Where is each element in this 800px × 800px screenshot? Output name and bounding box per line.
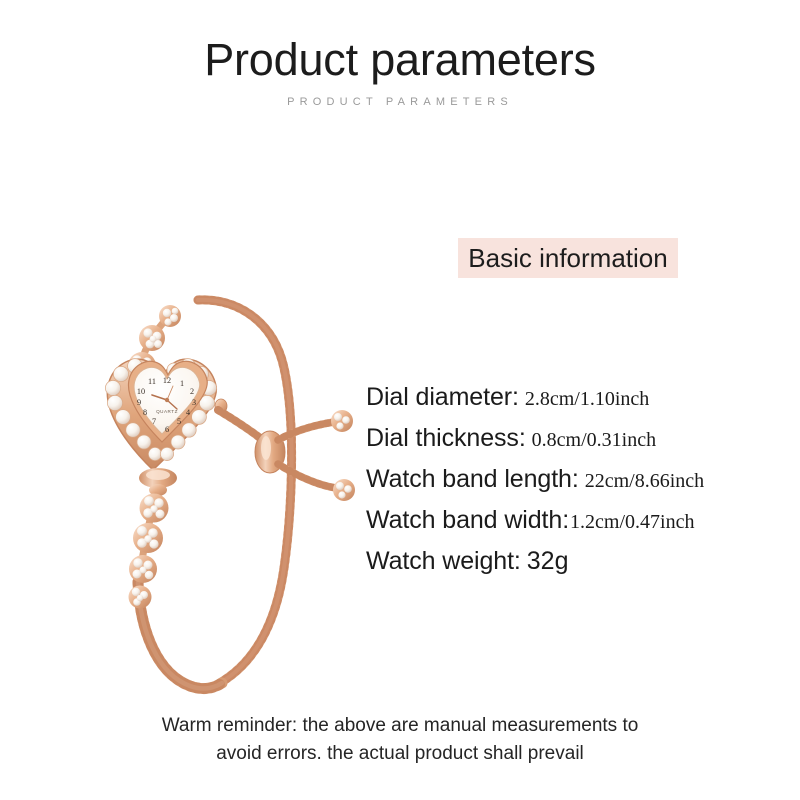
spec-value: 2.8cm/1.10inch	[519, 388, 649, 411]
dial-brand-text: QUARTZ	[156, 409, 178, 414]
svg-text:3: 3	[192, 398, 196, 407]
spec-value: 0.8cm/0.31inch	[526, 429, 656, 452]
heart-watch-case: 12 1 2 3 4 5 6 7 8 9 10 11 QUARTZ	[105, 359, 227, 470]
basic-information-highlight: Basic information	[458, 238, 678, 278]
spec-label: Watch band width:	[366, 506, 569, 535]
page-subtitle: PRODUCT PARAMETERS	[0, 96, 800, 108]
page-title: Product parameters	[0, 36, 800, 83]
specification-list: Dial diameter: 2.8cm/1.10inch Dial thick…	[366, 383, 800, 588]
svg-text:6: 6	[165, 425, 169, 434]
spec-label: Watch weight:	[366, 547, 521, 576]
svg-text:7: 7	[152, 417, 156, 426]
spec-value: 22cm/8.66inch	[579, 470, 704, 493]
spec-value: 32g	[521, 547, 569, 576]
svg-text:9: 9	[137, 398, 141, 407]
spec-row-watch-band-length: Watch band length: 22cm/8.66inch	[366, 465, 800, 506]
section-heading-label: Basic information	[458, 238, 678, 278]
spec-label: Dial thickness:	[366, 424, 526, 453]
svg-text:8: 8	[143, 408, 147, 417]
svg-text:10: 10	[137, 387, 145, 396]
spec-label: Dial diameter:	[366, 383, 519, 412]
svg-text:11: 11	[148, 377, 156, 386]
spec-row-dial-thickness: Dial thickness: 0.8cm/0.31inch	[366, 424, 800, 465]
svg-text:1: 1	[180, 379, 184, 388]
svg-text:12: 12	[163, 376, 171, 385]
spec-value: 1.2cm/0.47inch	[569, 511, 694, 534]
spec-row-watch-weight: Watch weight: 32g	[366, 547, 800, 588]
spec-row-dial-diameter: Dial diameter: 2.8cm/1.10inch	[366, 383, 800, 424]
page-header: Product parameters PRODUCT PARAMETERS	[0, 36, 800, 108]
connector-bead-bottom	[139, 468, 177, 496]
rhinestone-beads-lower	[129, 494, 169, 609]
spec-label: Watch band length:	[366, 465, 579, 494]
spec-row-watch-band-width: Watch band width: 1.2cm/0.47inch	[366, 506, 800, 547]
bracelet-chain-right	[198, 300, 292, 684]
svg-text:4: 4	[186, 408, 190, 417]
product-photo-heart-bracelet-watch: 12 1 2 3 4 5 6 7 8 9 10 11 QUARTZ	[78, 282, 378, 722]
svg-text:5: 5	[177, 417, 181, 426]
svg-text:2: 2	[190, 387, 194, 396]
warm-reminder-line-2: avoid errors. the actual product shall p…	[100, 740, 700, 768]
